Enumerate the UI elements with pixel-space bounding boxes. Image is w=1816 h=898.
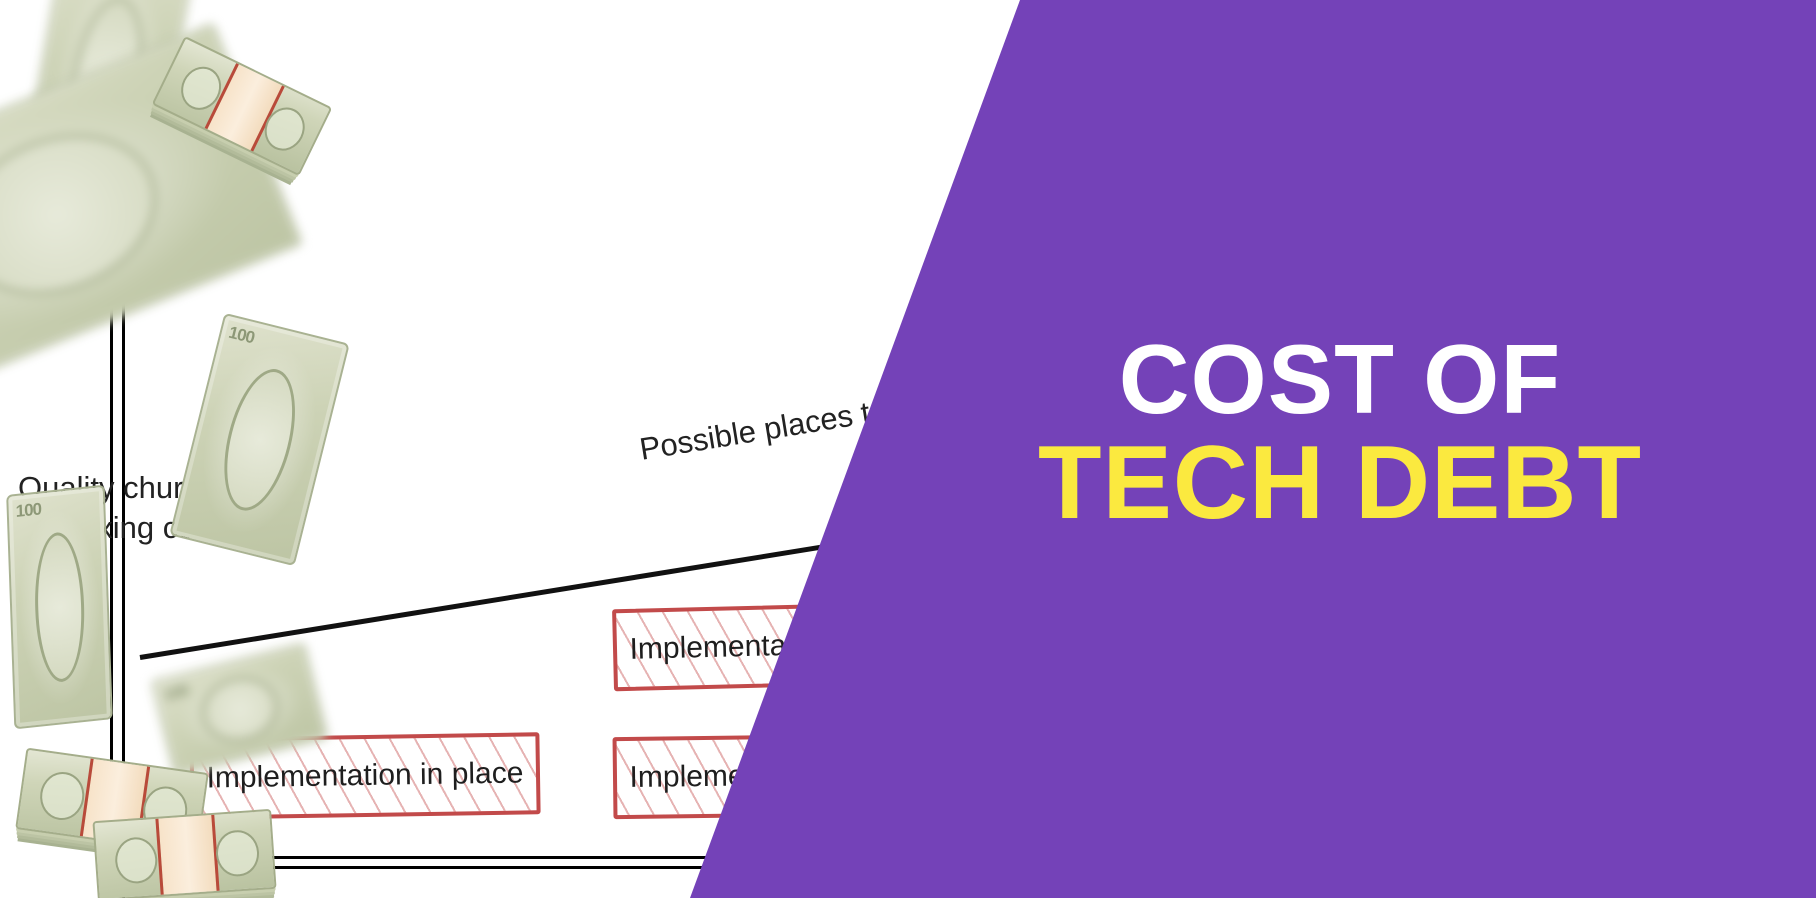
money-bill-decor	[169, 313, 350, 566]
implementation-box: Implementation in place	[613, 733, 964, 819]
money-bill-decor	[6, 485, 113, 730]
money-stack-decor	[1062, 0, 1254, 115]
money-oval-decor	[214, 829, 260, 878]
money-oval-decor	[1085, 43, 1136, 97]
money-band-decor	[156, 815, 220, 895]
money-band-decor	[1124, 14, 1197, 101]
money-oval-decor	[1106, 763, 1155, 816]
x-axis-label: Application development	[706, 840, 1044, 876]
money-bill-decor	[1222, 118, 1368, 206]
money-stack-decor	[92, 809, 276, 898]
x-axis-arrow-icon	[1680, 848, 1706, 874]
title-line-tech-debt: TECH DEBT	[1000, 430, 1680, 536]
implementation-box-label: Implementation in place	[629, 625, 947, 667]
poster-canvas: Implementation in place Implementation i…	[0, 0, 1816, 898]
money-oval-decor	[1002, 751, 1051, 804]
money-oval-decor	[37, 769, 87, 822]
money-band-decor	[1045, 739, 1114, 824]
implementation-box: Implementation in place	[612, 601, 964, 692]
implementation-box-label: Implementation in place	[629, 757, 946, 795]
money-oval-decor	[113, 836, 159, 885]
title-line-cost-of: COST OF	[1000, 330, 1680, 430]
poster-title: COST OF TECH DEBT	[1000, 330, 1680, 536]
implementation-box-label: Implementation in place	[206, 757, 523, 796]
